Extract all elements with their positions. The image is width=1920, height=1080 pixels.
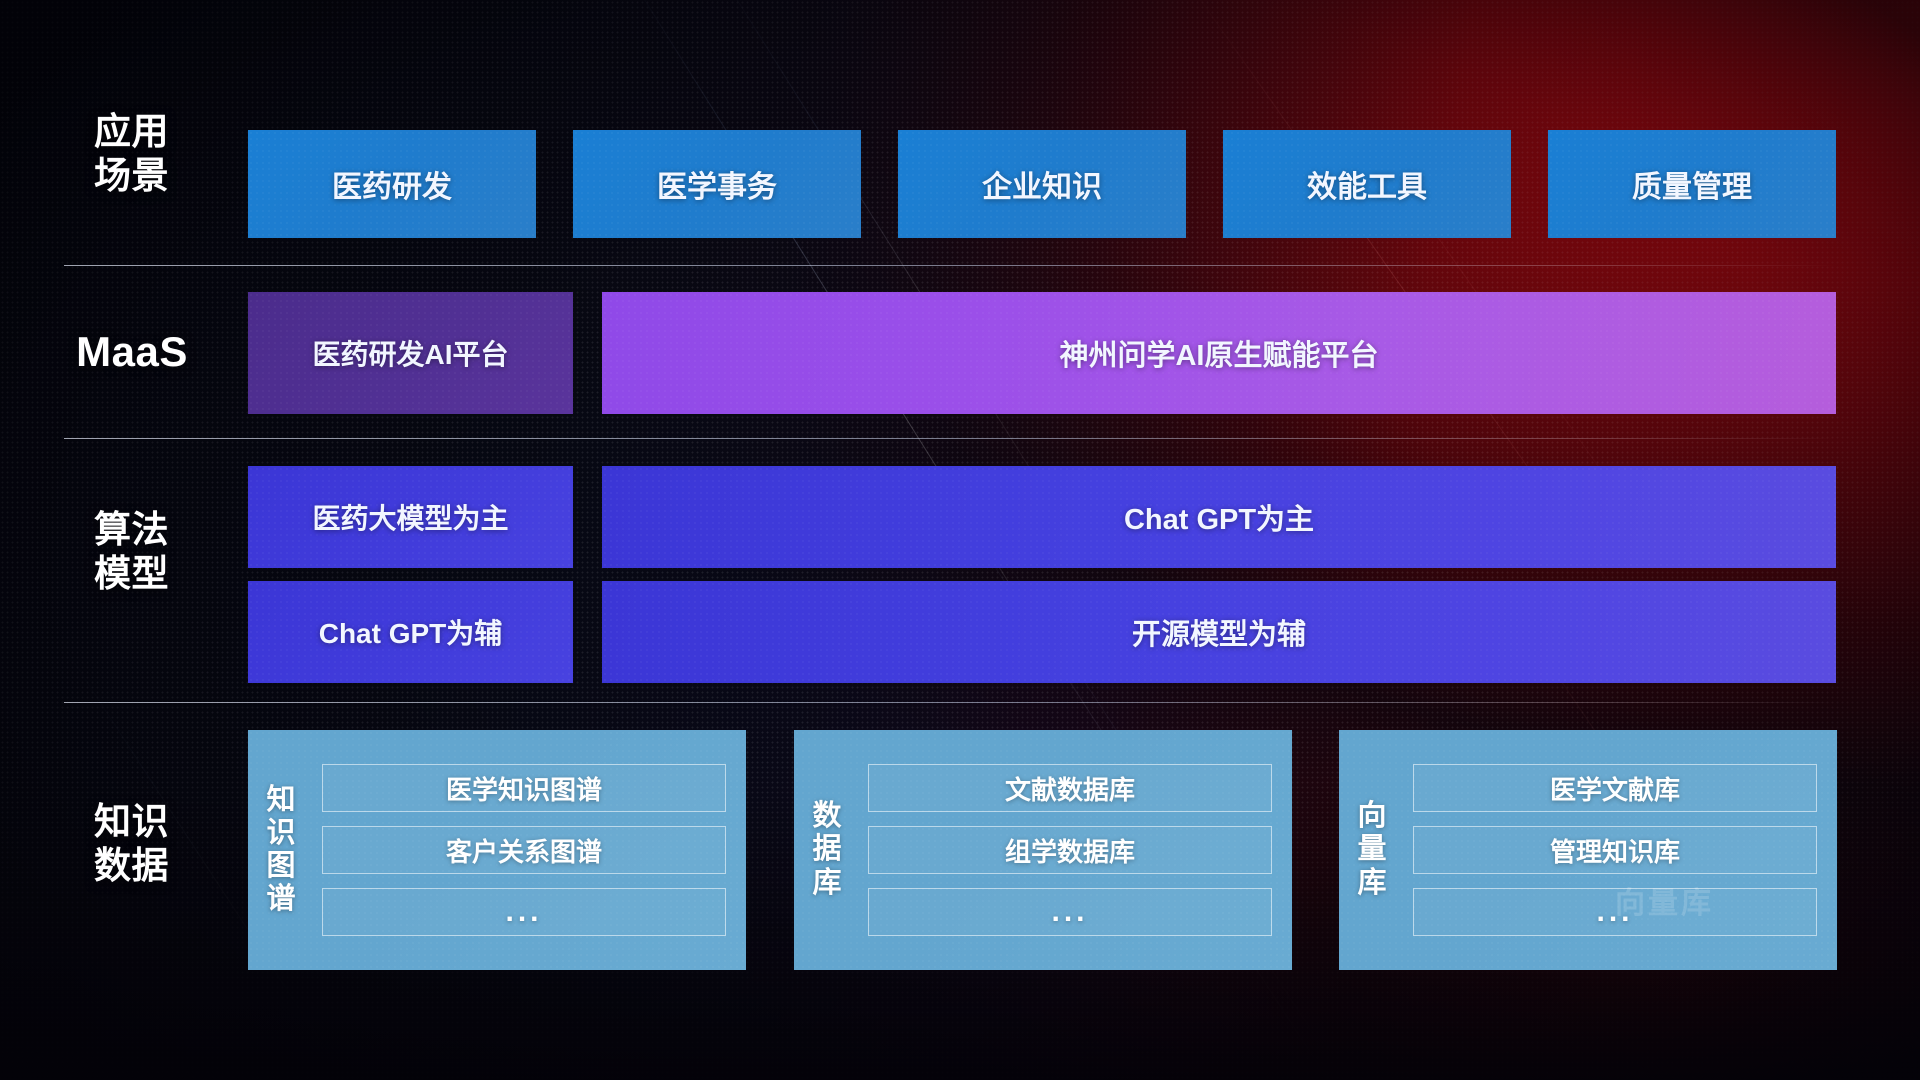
knowledge-item[interactable]: 组学数据库 — [868, 826, 1272, 874]
app-box-label: 医药研发 — [332, 162, 452, 206]
knowledge-panel-vector-store[interactable]: 向 量 库 向量库 医学文献库 管理知识库 ... — [1339, 730, 1837, 970]
knowledge-item[interactable]: 医学知识图谱 — [322, 764, 726, 812]
algo-box-opensource-secondary[interactable]: 开源模型为辅 — [602, 581, 1836, 683]
maas-box-label: 医药研发AI平台 — [312, 333, 508, 373]
app-box-medicine-rnd[interactable]: 医药研发 — [248, 130, 536, 238]
row-label-maas: MaaS — [52, 265, 212, 438]
slide-canvas: 应用 场景 MaaS 算法 模型 知识 数据 医药研发 医学事务 企业知识 效能… — [0, 0, 1920, 1080]
maas-box-medicine-ai-platform[interactable]: 医药研发AI平台 — [248, 292, 573, 414]
knowledge-item-more[interactable]: ... — [868, 888, 1272, 936]
knowledge-item-more[interactable]: ... — [1413, 888, 1817, 936]
knowledge-item[interactable]: 管理知识库 — [1413, 826, 1817, 874]
app-box-efficiency-tools[interactable]: 效能工具 — [1223, 130, 1511, 238]
knowledge-panel-title: 知 识 图 谱 — [248, 730, 314, 970]
app-box-label: 质量管理 — [1632, 162, 1752, 206]
knowledge-item-list: 医学知识图谱 客户关系图谱 ... — [314, 730, 746, 970]
maas-box-shenzhou-platform[interactable]: 神州问学AI原生赋能平台 — [602, 292, 1836, 414]
knowledge-panel-title: 向 量 库 — [1339, 730, 1405, 970]
app-box-label: 企业知识 — [982, 162, 1102, 206]
divider-maas — [64, 438, 1836, 439]
algo-box-chatgpt-secondary[interactable]: Chat GPT为辅 — [248, 581, 573, 683]
algo-box-label: 开源模型为辅 — [1132, 611, 1306, 653]
knowledge-item[interactable]: 文献数据库 — [868, 764, 1272, 812]
row-label-knowledge: 知识 数据 — [64, 800, 199, 887]
knowledge-panel-knowledge-graph[interactable]: 知 识 图 谱 医学知识图谱 客户关系图谱 ... — [248, 730, 746, 970]
knowledge-item-list: 医学文献库 管理知识库 ... — [1405, 730, 1837, 970]
algo-box-label: Chat GPT为辅 — [319, 612, 503, 652]
algo-box-label: 医药大模型为主 — [312, 497, 508, 537]
app-box-quality-management[interactable]: 质量管理 — [1548, 130, 1836, 238]
app-box-enterprise-knowledge[interactable]: 企业知识 — [898, 130, 1186, 238]
algo-box-label: Chat GPT为主 — [1124, 496, 1314, 538]
row-label-algorithm: 算法 模型 — [64, 508, 199, 595]
divider-algorithm — [64, 702, 1836, 703]
knowledge-panel-title: 数 据 库 — [794, 730, 860, 970]
knowledge-panel-database[interactable]: 数 据 库 文献数据库 组学数据库 ... — [794, 730, 1292, 970]
divider-application — [64, 265, 1836, 266]
knowledge-item-list: 文献数据库 组学数据库 ... — [860, 730, 1292, 970]
knowledge-item-more[interactable]: ... — [322, 888, 726, 936]
knowledge-item[interactable]: 医学文献库 — [1413, 764, 1817, 812]
algo-box-chatgpt-primary[interactable]: Chat GPT为主 — [602, 466, 1836, 568]
app-box-label: 医学事务 — [657, 162, 777, 206]
algo-box-medicine-llm-primary[interactable]: 医药大模型为主 — [248, 466, 573, 568]
app-box-label: 效能工具 — [1307, 162, 1427, 206]
row-label-application: 应用 场景 — [64, 110, 199, 197]
knowledge-item[interactable]: 客户关系图谱 — [322, 826, 726, 874]
maas-box-label: 神州问学AI原生赋能平台 — [1059, 332, 1378, 374]
app-box-medical-affairs[interactable]: 医学事务 — [573, 130, 861, 238]
architecture-diagram: 应用 场景 MaaS 算法 模型 知识 数据 医药研发 医学事务 企业知识 效能… — [0, 0, 1920, 1080]
